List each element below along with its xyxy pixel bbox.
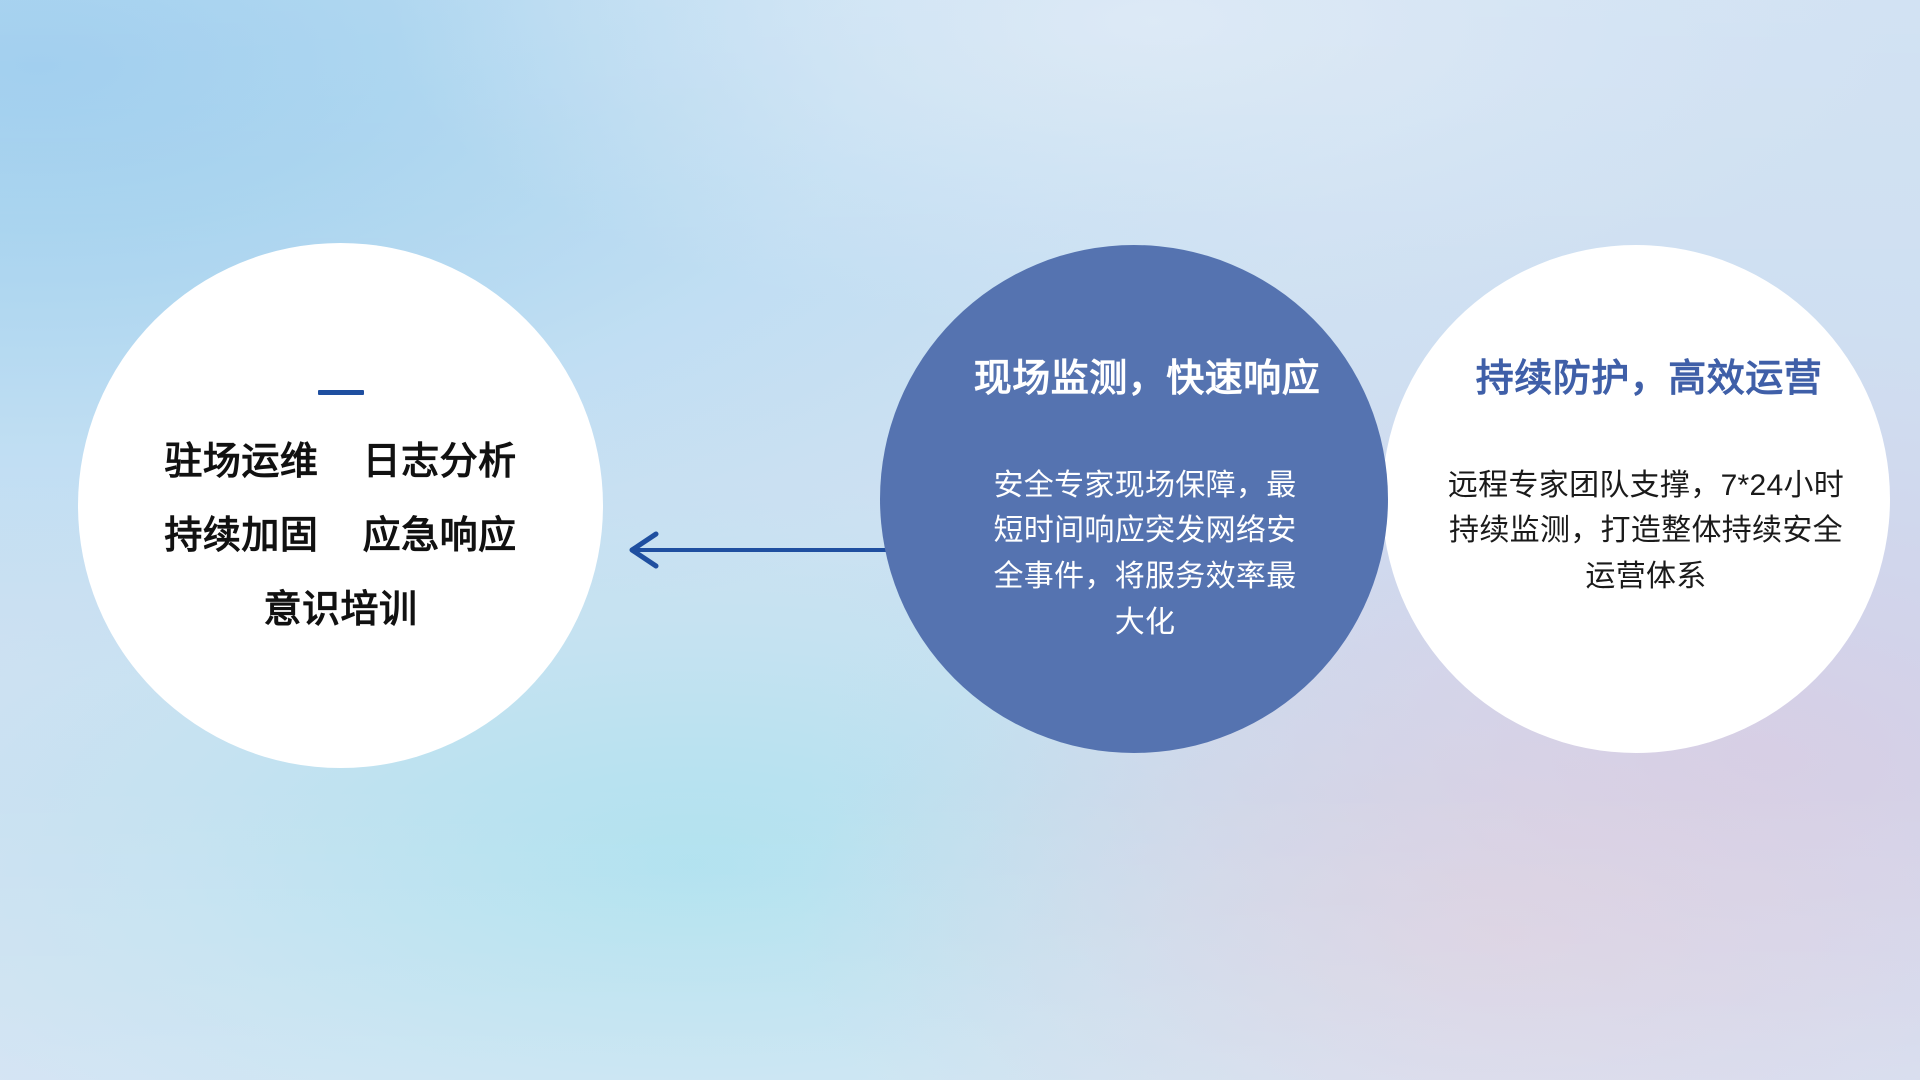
- left-circle-line-1: 驻场运维 日志分析: [164, 443, 516, 481]
- left-circle-line-3: 意识培训: [263, 591, 417, 629]
- middle-circle-body: 安全专家现场保障，最短时间响应突发网络安全事件，将服务效率最大化: [980, 463, 1310, 645]
- slide-canvas: 驻场运维 日志分析 持续加固 应急响应 意识培训 持续防护，高效运营 远程专家团…: [0, 0, 1920, 1080]
- middle-circle-content: 现场监测，快速响应 安全专家现场保障，最短时间响应突发网络安全事件，将服务效率最…: [880, 245, 1388, 753]
- left-circle-content: 驻场运维 日志分析 持续加固 应急响应 意识培训: [78, 243, 603, 768]
- left-circle-line-2: 持续加固 应急响应: [164, 517, 516, 555]
- right-circle-title: 持续防护，高效运营: [1476, 359, 1823, 401]
- middle-circle-title: 现场监测，快速响应: [974, 359, 1321, 401]
- right-circle-body: 远程专家团队支撑，7*24小时持续监测，打造整体持续安全运营体系: [1436, 463, 1856, 600]
- divider-dash-icon: [318, 390, 364, 395]
- left-capability-circle[interactable]: 驻场运维 日志分析 持续加固 应急响应 意识培训: [78, 243, 603, 768]
- right-circle-content: 持续防护，高效运营 远程专家团队支撑，7*24小时持续监测，打造整体持续安全运营…: [1382, 245, 1890, 753]
- right-operations-circle[interactable]: 持续防护，高效运营 远程专家团队支撑，7*24小时持续监测，打造整体持续安全运营…: [1382, 245, 1890, 753]
- flow-arrow-icon: [610, 520, 910, 580]
- middle-monitoring-circle[interactable]: 现场监测，快速响应 安全专家现场保障，最短时间响应突发网络安全事件，将服务效率最…: [880, 245, 1388, 753]
